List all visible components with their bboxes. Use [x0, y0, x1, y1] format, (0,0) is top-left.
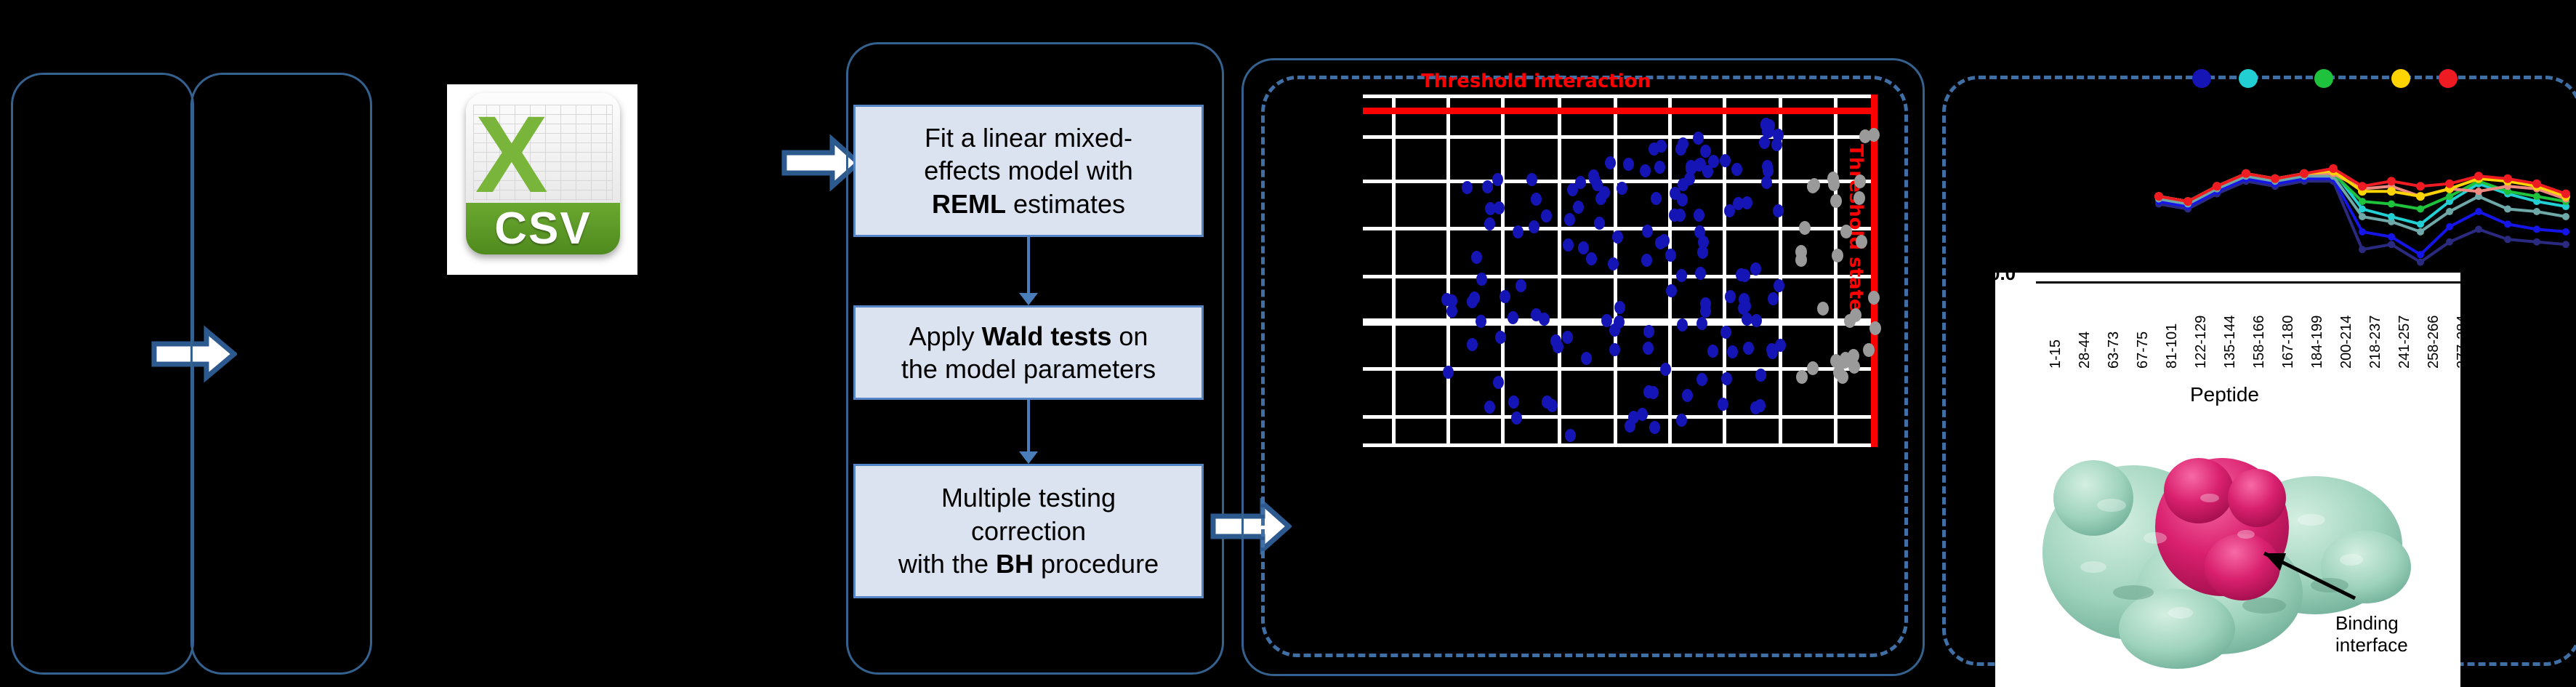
connector-step2-step3-arrowhead: [1019, 451, 1038, 464]
chart-series-marker: [2533, 225, 2540, 233]
chart-series-marker: [2475, 188, 2482, 195]
excel-x-glyph: X: [475, 100, 548, 209]
gridline-v: [1614, 322, 1617, 447]
scatter-point-significant: [1707, 345, 1718, 358]
scatter-point-significant: [1516, 279, 1526, 292]
step1-line3-rest: estimates: [1006, 189, 1125, 219]
peptide-tick-label: 241-257: [2396, 316, 2413, 369]
chart-series-marker: [2359, 206, 2366, 213]
threshold-scatter-lower-grid: [1363, 322, 1875, 447]
chart-series-marker: [2388, 213, 2395, 220]
chart-series-marker: [2388, 233, 2395, 241]
scatter-point-significant: [1762, 125, 1773, 138]
peptide-tick-label: 1-15: [2048, 340, 2064, 369]
gridline-v: [1446, 322, 1450, 447]
peptide-tick-label: 218-237: [2367, 316, 2384, 369]
chart-series-marker: [2358, 182, 2367, 190]
series-dot-cyan: [2239, 69, 2258, 88]
scatter-point-significant: [1677, 318, 1688, 332]
chart-series-marker: [2561, 190, 2570, 198]
scatter-point-significant: [1750, 262, 1761, 276]
scatter-point-significant: [1720, 326, 1731, 339]
threshold-interaction-label: Threshold interaction: [1421, 71, 1651, 92]
scatter-point-significant: [1640, 164, 1651, 177]
step-wald-tests-box[interactable]: Apply Wald tests on the model parameters: [853, 305, 1204, 400]
peptide-tick-label: 67-75: [2135, 332, 2152, 369]
scatter-point-significant: [1693, 132, 1704, 145]
scatter-point-significant: [1529, 220, 1539, 233]
step-bh-correction-box[interactable]: Multiple testing correction with the BH …: [853, 464, 1204, 598]
peptide-tick-label: 200-214: [2338, 316, 2355, 369]
scatter-point-significant: [1694, 158, 1704, 172]
chart-series-marker: [2329, 164, 2338, 173]
chart-series-marker: [2387, 177, 2396, 185]
chart-series-marker: [2359, 228, 2366, 236]
scatter-point-significant: [1605, 156, 1616, 169]
chart-series-marker: [2562, 241, 2569, 248]
scatter-point-significant: [1742, 196, 1752, 209]
connector-step1-step2-arrowhead: [1019, 293, 1038, 305]
gridline-v: [1392, 322, 1396, 447]
binding-interface-line2: interface: [2335, 634, 2408, 656]
scatter-point-significant: [1736, 268, 1747, 281]
peptide-tick-label: 184-199: [2309, 316, 2326, 369]
chart-series-marker: [2388, 241, 2395, 248]
scatter-point-nonsignificant: [1869, 321, 1881, 335]
series-dot-yellow: [2391, 69, 2410, 88]
scatter-point-significant: [1609, 343, 1620, 356]
scatter-point-significant: [1467, 338, 1478, 351]
scatter-point-significant: [1642, 225, 1653, 238]
csv-file-icon[interactable]: X CSV: [466, 93, 620, 254]
scatter-point-significant: [1743, 342, 1754, 355]
step2-line2: the model parameters: [901, 354, 1156, 384]
scatter-point-nonsignificant: [1830, 354, 1842, 368]
peptide-tick-label: 158-166: [2251, 316, 2268, 369]
csv-input-panel[interactable]: [190, 73, 372, 675]
scatter-point-significant: [1720, 154, 1731, 167]
chart-series-marker: [2474, 172, 2483, 180]
scatter-point-significant: [1625, 419, 1635, 433]
scatter-point-significant: [1675, 142, 1686, 156]
scatter-point-significant: [1708, 155, 1719, 168]
chart-series-marker: [2504, 236, 2511, 243]
scatter-point-significant: [1495, 331, 1506, 344]
chart-series-marker: [2271, 174, 2279, 183]
scatter-point-significant: [1494, 201, 1505, 214]
chart-series-marker: [2446, 238, 2453, 246]
chart-series-marker: [2503, 174, 2512, 183]
scatter-point-significant: [1641, 254, 1652, 267]
scatter-point-significant: [1755, 369, 1766, 382]
series-dot-red: [2439, 69, 2458, 88]
series-dot-green: [2314, 69, 2333, 88]
gridline-v: [1614, 95, 1617, 322]
chart-series-marker: [2213, 182, 2221, 190]
scatter-point-significant: [1482, 180, 1493, 193]
threshold-scatter-plot-area[interactable]: [1363, 95, 1875, 322]
gridline-h: [1363, 95, 1875, 98]
chart-series-marker: [2446, 193, 2453, 200]
gridline-v: [1392, 95, 1396, 322]
chart-series-marker: [2359, 246, 2366, 253]
scatter-point-significant: [1573, 201, 1584, 214]
chart-series-marker: [2359, 198, 2366, 205]
scatter-point-significant: [1564, 213, 1575, 226]
chart-series-marker: [2533, 208, 2540, 215]
peptide-tick-label: 277-284: [2455, 316, 2460, 369]
chart-series-marker: [2445, 180, 2454, 188]
gridline-v: [1558, 95, 1561, 322]
chart-series-marker: [2417, 228, 2424, 236]
step2-wald: Wald tests: [982, 321, 1112, 351]
step2-line1-post: on: [1111, 321, 1148, 351]
step1-line1: Fit a linear mixed-: [925, 123, 1132, 153]
chart-series-marker: [2562, 213, 2569, 220]
scatter-point-significant: [1649, 421, 1660, 434]
csv-label: CSV: [494, 203, 591, 254]
scatter-point-significant: [1562, 331, 1573, 344]
scatter-point-nonsignificant: [1796, 370, 1808, 384]
gridline-v: [1834, 95, 1838, 322]
scatter-point-significant: [1643, 325, 1654, 338]
scatter-point-significant: [1614, 301, 1625, 314]
peptide-tick-label: 258-266: [2426, 316, 2442, 369]
scatter-point-significant: [1771, 138, 1782, 151]
chart-series-marker: [2242, 169, 2250, 178]
scatter-point-significant: [1654, 161, 1665, 174]
step-bh-correction-text: Multiple testing correction with the BH …: [898, 481, 1159, 580]
chart-series-marker: [2183, 197, 2192, 206]
chart-series-marker: [2562, 228, 2569, 236]
step-wald-tests-text: Apply Wald tests on the model parameters: [901, 320, 1156, 386]
threshold-state-line: [1871, 95, 1877, 447]
step1-reml: REML: [932, 189, 1006, 219]
chart-series-marker: [2475, 208, 2482, 215]
scatter-point-significant: [1676, 414, 1687, 427]
scatter-point-nonsignificant: [1853, 191, 1865, 205]
chart-series-marker: [2504, 220, 2511, 228]
scatter-point-significant: [1700, 297, 1711, 310]
gridline-h: [1363, 367, 1875, 371]
peptide-tick-label: 167-180: [2280, 316, 2297, 369]
scatter-point-significant: [1682, 389, 1693, 402]
chart-series-marker: [2417, 220, 2424, 228]
scatter-point-significant: [1727, 345, 1738, 358]
chart-series-marker: [2154, 192, 2163, 201]
step3-line3-pre: with the: [898, 549, 996, 579]
step3-line1: Multiple testing: [941, 483, 1116, 513]
scatter-point-significant: [1731, 163, 1742, 176]
scatter-point-significant: [1492, 173, 1503, 186]
peptide-tick-label: 63-73: [2106, 332, 2122, 369]
scatter-point-nonsignificant: [1840, 225, 1852, 238]
csv-label-band: CSV: [466, 203, 620, 254]
scatter-point-significant: [1676, 269, 1687, 282]
peptide-tick-label: 28-44: [2077, 332, 2093, 369]
chart-series-marker: [2416, 192, 2425, 201]
chart-series-marker: [2533, 193, 2540, 200]
peptide-inset[interactable]: 0.0 1-1528-4463-7367-7581-101122-129135-…: [1995, 273, 2460, 687]
chart-series-marker: [2417, 259, 2424, 266]
chart-series-marker: [2416, 182, 2425, 190]
scatter-point-significant: [1677, 193, 1688, 206]
peptide-tick-label: 122-129: [2193, 316, 2210, 369]
scatter-point-significant: [1694, 209, 1704, 222]
chart-series-marker: [2532, 180, 2541, 188]
step-fit-model-box[interactable]: Fit a linear mixed- effects model with R…: [853, 105, 1204, 237]
threshold-interaction-line: [1363, 108, 1875, 114]
gridline-h: [1363, 443, 1875, 447]
scatter-point-nonsignificant: [1830, 194, 1842, 208]
scatter-point-nonsignificant: [1817, 302, 1829, 316]
gridline-v: [1668, 322, 1672, 447]
chart-series-marker: [2446, 223, 2453, 230]
peptide-axis-title: Peptide: [2190, 383, 2259, 406]
step-fit-model-text: Fit a linear mixed- effects model with R…: [924, 121, 1132, 220]
scatter-point-significant: [1493, 376, 1504, 389]
step2-line1-pre: Apply: [909, 321, 982, 351]
scatter-point-significant: [1774, 279, 1784, 292]
chart-series-marker: [2475, 225, 2482, 233]
gridline-v: [1834, 322, 1838, 447]
scatter-point-significant: [1725, 290, 1736, 303]
scatter-point-significant: [1751, 314, 1762, 327]
chart-series-marker: [2417, 206, 2424, 213]
peptide-tick-label: 81-101: [2164, 324, 2181, 369]
step3-bh: BH: [996, 549, 1034, 579]
chart-series-marker: [2446, 208, 2453, 215]
scatter-point-significant: [1648, 386, 1659, 399]
scatter-point-significant: [1531, 193, 1542, 206]
scatter-point-nonsignificant: [1868, 291, 1880, 305]
scatter-point-significant: [1541, 209, 1552, 222]
binding-interface-callout: Binding interface: [2335, 613, 2408, 656]
peptide-line-chart[interactable]: [1948, 138, 2573, 284]
scatter-point-significant: [1586, 252, 1597, 265]
scatter-point-significant: [1700, 145, 1711, 158]
chart-series-marker: [2417, 251, 2424, 258]
scatter-point-significant: [1581, 352, 1592, 365]
gridline-h: [1363, 227, 1875, 230]
step1-line2: effects model with: [924, 156, 1132, 185]
scatter-point-significant: [1608, 257, 1619, 270]
chart-series-marker: [2533, 238, 2540, 246]
scatter-point-significant: [1462, 181, 1473, 194]
gridline-v: [1446, 95, 1450, 322]
connector-step1-step2: [1027, 237, 1030, 298]
binding-interface-line1: Binding: [2335, 612, 2399, 634]
gridline-h: [1363, 275, 1875, 278]
scatter-point-significant: [1617, 182, 1627, 195]
scatter-point-nonsignificant: [1799, 221, 1811, 235]
scatter-point-significant: [1666, 284, 1677, 297]
gridline-h: [1363, 135, 1875, 139]
scatter-point-nonsignificant: [1828, 177, 1840, 191]
chart-series-marker: [2504, 206, 2511, 213]
scatter-point-significant: [1508, 311, 1518, 324]
chart-series-marker: [2387, 187, 2396, 196]
step3-line2: correction: [971, 516, 1086, 546]
y-tick-label-zero: 0.0: [1995, 273, 2016, 285]
scatter-point-significant: [1471, 251, 1482, 264]
peptide-tick-label: 135-144: [2222, 316, 2239, 369]
scatter-point-significant: [1669, 209, 1680, 222]
step3-line3-post: procedure: [1034, 549, 1159, 579]
connector-step2-step3: [1027, 400, 1030, 457]
series-dot-blue: [2192, 69, 2211, 88]
chart-series-marker: [2388, 201, 2395, 208]
chart-series-marker: [2300, 169, 2309, 178]
scatter-point-significant: [1721, 372, 1732, 385]
chart-series-marker: [2359, 213, 2366, 220]
gridline-h: [1363, 415, 1875, 419]
scatter-point-significant: [1678, 178, 1689, 191]
peptide-axis-line: [2036, 281, 2460, 284]
scatter-point-significant: [1601, 314, 1612, 327]
scatter-point-nonsignificant: [1863, 343, 1875, 357]
